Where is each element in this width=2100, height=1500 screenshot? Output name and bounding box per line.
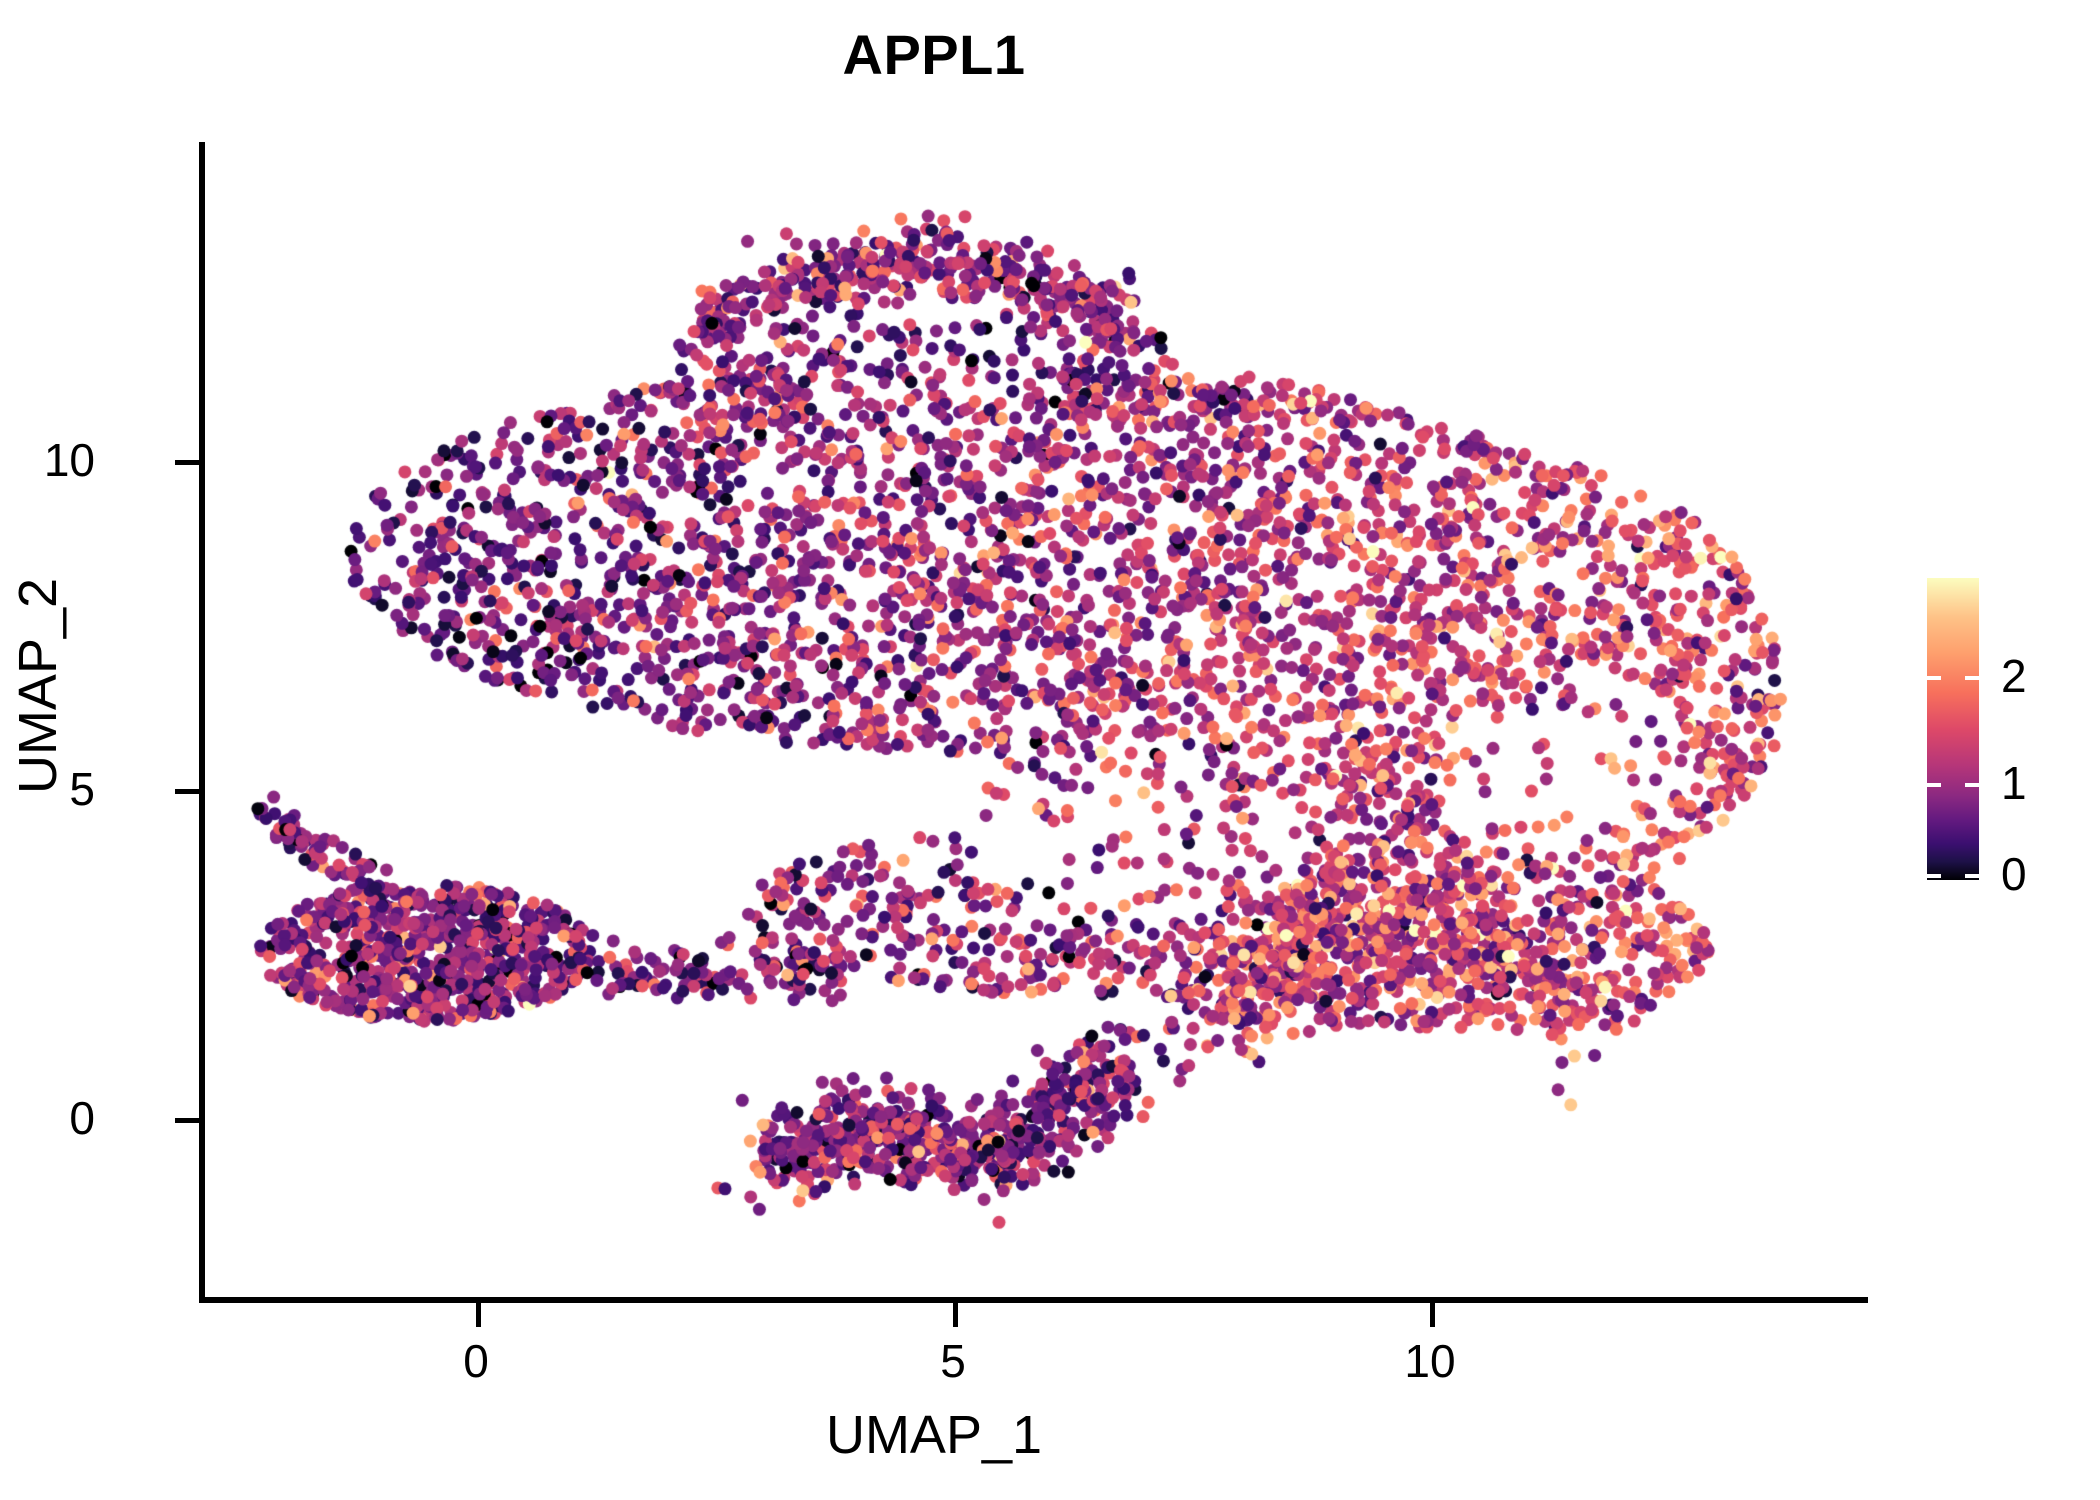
y-tick-label-0: 0 <box>69 1095 95 1141</box>
legend-tick-2-left <box>1927 676 1941 680</box>
y-tick-label-5: 5 <box>69 766 95 812</box>
legend-tick-0-left <box>1927 874 1941 878</box>
x-tick-mark-10 <box>1430 1303 1435 1327</box>
y-axis-line <box>199 142 205 1303</box>
page-title: APPL1 <box>0 22 1868 87</box>
legend-tick-2-right <box>1965 676 1979 680</box>
legend-tick-0-right <box>1965 874 1979 878</box>
scatter-points-canvas <box>204 142 1868 1300</box>
legend-label-0: 0 <box>2001 851 2027 897</box>
x-tick-label-0: 0 <box>416 1338 536 1384</box>
legend-tick-1-left <box>1927 783 1941 787</box>
y-axis-title: UMAP_2 <box>7 426 69 946</box>
x-axis-title: UMAP_1 <box>0 1404 1868 1466</box>
x-tick-label-10: 10 <box>1370 1338 1490 1384</box>
color-legend: 2 1 0 <box>1927 578 2087 888</box>
plot-panel <box>204 142 1868 1300</box>
x-axis-line <box>199 1297 1868 1303</box>
x-tick-mark-0 <box>476 1303 481 1327</box>
legend-label-2: 2 <box>2001 653 2027 699</box>
y-tick-mark-5 <box>175 789 199 794</box>
umap-feature-plot: APPL1 10 5 0 0 5 10 UMAP_1 UMAP_2 2 1 0 <box>0 0 2100 1500</box>
legend-tick-1-right <box>1965 783 1979 787</box>
x-tick-label-5: 5 <box>893 1338 1013 1384</box>
y-tick-mark-0 <box>175 1118 199 1123</box>
x-tick-mark-5 <box>953 1303 958 1327</box>
colorbar-gradient <box>1927 578 1979 880</box>
legend-label-1: 1 <box>2001 760 2027 806</box>
y-tick-mark-10 <box>175 460 199 465</box>
